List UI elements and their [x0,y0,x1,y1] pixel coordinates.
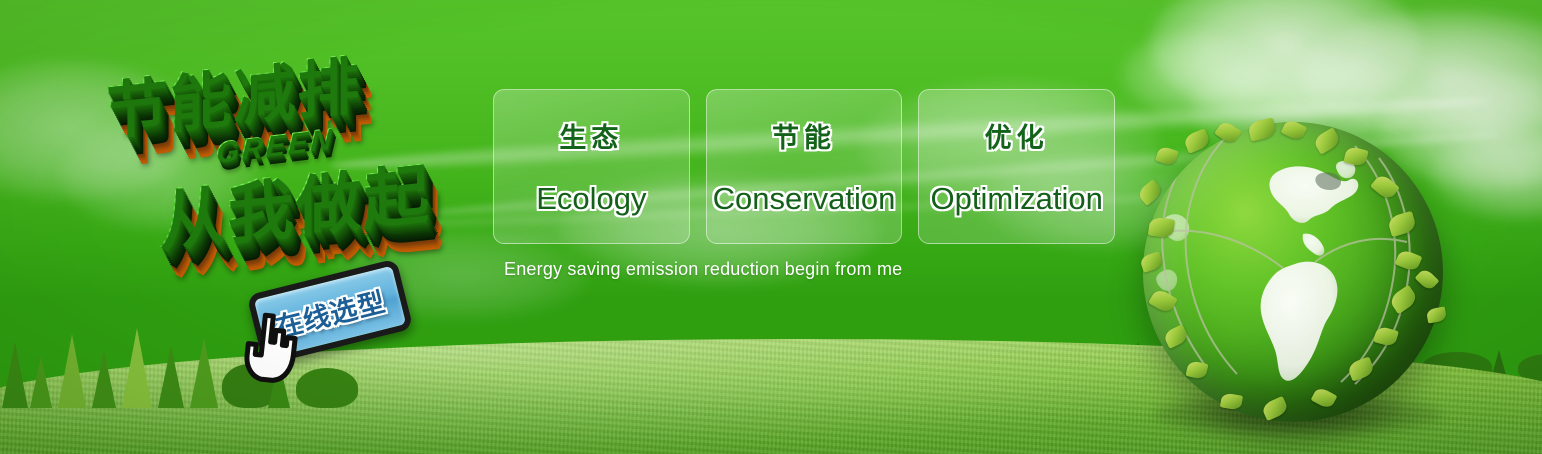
cloud-shape [1150,0,1420,120]
hero-title-3d: 节能减排 GREEN 从我做起 [87,19,506,283]
globe-vines [1143,122,1443,422]
hero-title-line2: 从我做起 [159,140,430,265]
cloud-shape [1120,30,1270,120]
feature-card-label-cn: 节能 [772,116,836,155]
feature-card-label-en: Optimization [931,181,1103,217]
feature-card-label-en: Conservation [713,181,896,217]
feature-card-label-cn: 生态 [559,116,623,155]
feature-card-ecology[interactable]: 生态 Ecology [493,89,690,244]
cloud-shape [1430,130,1542,220]
banner-tagline: Energy saving emission reduction begin f… [504,259,902,280]
feature-card-label-en: Ecology [536,181,646,217]
globe-sphere [1143,122,1443,422]
feature-cards: 生态 Ecology 节能 Conservation 优化 Optimizati… [493,89,1115,244]
eco-promo-banner: 节能减排 GREEN 从我做起 在线选型 生态 Ecology 节能 Conse… [0,0,1542,454]
feature-card-conservation[interactable]: 节能 Conservation [706,89,903,244]
feature-card-label-cn: 优化 [985,116,1049,155]
leafy-earth-globe-icon [1143,122,1443,422]
feature-card-optimization[interactable]: 优化 Optimization [918,89,1115,244]
cloud-shape [1300,10,1542,140]
